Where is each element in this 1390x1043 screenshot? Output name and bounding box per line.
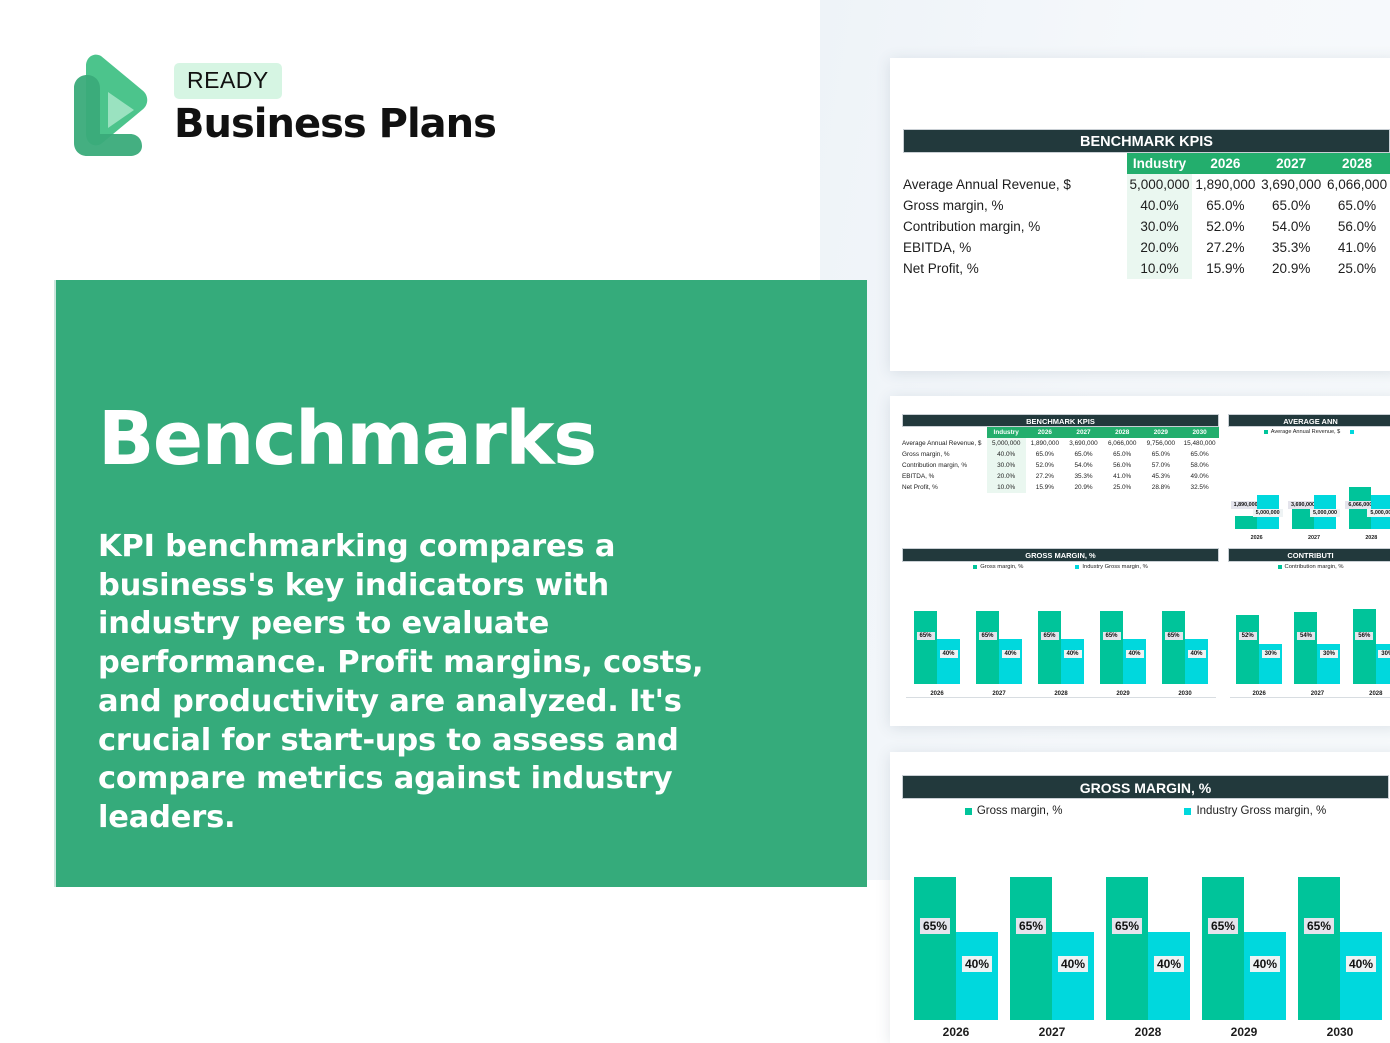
bar-industry: 40% <box>1185 639 1208 684</box>
legend-swatch-icon <box>1075 565 1079 569</box>
bar-group: 65%40%2028 <box>1033 596 1089 684</box>
bar-value-label: 65% <box>1164 632 1182 640</box>
bar-industry: 5,000,000 <box>1371 495 1390 529</box>
bar-company: 65% <box>1202 877 1244 1020</box>
bar-company: 65% <box>1106 877 1148 1020</box>
table-cell: 15.9% <box>1026 482 1065 493</box>
table-row: Contribution margin, %30.0%52.0%54.0%56.… <box>903 216 1390 237</box>
bar-group: 65%40%2026 <box>909 596 965 684</box>
hero-panel: Benchmarks KPI benchmarking compares a b… <box>56 280 867 887</box>
bar-value-label: 30% <box>1320 650 1338 658</box>
table-cell: 5,000,000 <box>987 438 1026 449</box>
x-axis-label: 2027 <box>1288 535 1340 541</box>
bar-industry: 40% <box>1061 639 1084 684</box>
column-header: 2028 <box>1103 427 1142 438</box>
table-header-row: Industry202620272028 <box>903 153 1390 174</box>
legend-item: Gross margin, % <box>965 805 1063 817</box>
bar-group: 65%40%2027 <box>971 596 1027 684</box>
table-row: Average Annual Revenue, $5,000,0001,890,… <box>903 174 1390 195</box>
table-cell: 65.0% <box>1026 449 1065 460</box>
table-cell: 10.0% <box>1127 258 1193 279</box>
bar-value-label: 54% <box>1297 632 1315 640</box>
hero-description: KPI benchmarking compares a business's k… <box>98 528 758 838</box>
contribution-chart-title: CONTRIBUTI <box>1228 548 1390 562</box>
bar-industry: 40% <box>937 639 960 684</box>
x-axis-label: 2028 <box>1104 1025 1192 1039</box>
bar-group: 65%40%2026 <box>912 848 1000 1020</box>
bar-value-label: 5,000,000 <box>1310 509 1340 517</box>
x-axis-line <box>1230 697 1390 698</box>
legend-swatch-icon <box>1350 430 1354 434</box>
background-white-block <box>620 880 920 1043</box>
bar-industry: 40% <box>1244 932 1286 1020</box>
bar-value-label: 65% <box>916 632 934 640</box>
big-gross-chart-legend: Gross margin, % Industry Gross margin, % <box>902 805 1389 817</box>
table-cell: 57.0% <box>1142 460 1181 471</box>
table-cell: 5,000,000 <box>1127 174 1193 195</box>
contribution-chart-plot: 52%30%202654%30%202756%30%2028 <box>1230 576 1390 684</box>
legend-item: Contribution margin, % <box>1278 564 1344 570</box>
table-cell: 20.9% <box>1064 482 1103 493</box>
bar-company: 65% <box>1100 611 1123 684</box>
table-row: EBITDA, %20.0%27.2%35.3%41.0% <box>903 237 1390 258</box>
legend-swatch-icon <box>1278 565 1282 569</box>
bar-group: 56%30%2028 <box>1348 596 1390 684</box>
column-header: 2026 <box>1026 427 1065 438</box>
column-header: 2027 <box>1064 427 1103 438</box>
row-label: Net Profit, % <box>903 258 1127 279</box>
x-axis-label: 2028 <box>1345 535 1390 541</box>
table-cell: 20.0% <box>1127 237 1193 258</box>
column-header: 2026 <box>1192 153 1258 174</box>
table-row: Net Profit, %10.0%15.9%20.9%25.0%28.8%32… <box>902 482 1219 493</box>
bar-value-label: 65% <box>1040 632 1058 640</box>
table-header-row: Industry20262027202820292030 <box>902 427 1219 438</box>
legend-swatch-icon <box>1264 430 1268 434</box>
x-axis-line <box>906 697 1216 698</box>
table-cell: 20.0% <box>987 471 1026 482</box>
row-label: EBITDA, % <box>902 471 987 482</box>
bar-group: 65%40%2030 <box>1157 596 1213 684</box>
bar-value-label: 65% <box>920 918 950 934</box>
legend-swatch-icon <box>1184 808 1191 815</box>
row-label: Contribution margin, % <box>902 460 987 471</box>
bar-value-label: 40% <box>1063 650 1081 658</box>
x-axis-label: 2030 <box>1296 1025 1384 1039</box>
table-row: EBITDA, %20.0%27.2%35.3%41.0%45.3%49.0% <box>902 471 1219 482</box>
bar-industry: 40% <box>1340 932 1382 1020</box>
bar-value-label: 40% <box>1058 956 1088 972</box>
bar-company: 6,066,000 <box>1349 487 1371 529</box>
column-header: 2027 <box>1258 153 1324 174</box>
bar-company: 65% <box>976 611 999 684</box>
x-axis-label: 2026 <box>912 1025 1000 1039</box>
column-header: 2030 <box>1180 427 1219 438</box>
revenue-chart-plot: 1,890,0005,000,00020263,690,0005,000,000… <box>1228 444 1390 529</box>
table-cell: 41.0% <box>1103 471 1142 482</box>
mid-table-title: BENCHMARK KPIS <box>902 414 1219 427</box>
table-row: Contribution margin, %30.0%52.0%54.0%56.… <box>902 460 1219 471</box>
bar-value-label: 5,000,000 <box>1253 509 1283 517</box>
table-cell: 65.0% <box>1180 449 1219 460</box>
mid-gross-chart-title: GROSS MARGIN, % <box>902 548 1219 562</box>
bar-value-label: 40% <box>962 956 992 972</box>
table-cell: 65.0% <box>1064 449 1103 460</box>
bar-value-label: 65% <box>1016 918 1046 934</box>
table-cell: 27.2% <box>1192 237 1258 258</box>
bar-value-label: 40% <box>1001 650 1019 658</box>
table-cell: 45.3% <box>1142 471 1181 482</box>
bar-value-label: 56% <box>1355 632 1373 640</box>
legend-item: Gross margin, % <box>973 564 1023 570</box>
table-cell: 1,890,000 <box>1026 438 1065 449</box>
bar-industry: 40% <box>1052 932 1094 1020</box>
bar-group: 54%30%2027 <box>1289 596 1345 684</box>
legend-label: Gross margin, % <box>980 564 1023 570</box>
table-cell: 20.9% <box>1258 258 1324 279</box>
table-cell: 10.0% <box>987 482 1026 493</box>
big-gross-panel: GROSS MARGIN, % Gross margin, % Industry… <box>890 752 1390 1043</box>
row-label: Average Annual Revenue, $ <box>902 438 987 449</box>
bar-value-label: 40% <box>1154 956 1184 972</box>
table-row: Gross margin, %40.0%65.0%65.0%65.0%65.0%… <box>902 449 1219 460</box>
row-label: EBITDA, % <box>903 237 1127 258</box>
table-cell: 54.0% <box>1064 460 1103 471</box>
bar-value-label: 40% <box>1187 650 1205 658</box>
x-axis-label: 2026 <box>1231 535 1283 541</box>
brand-text: READY Business Plans <box>174 63 496 145</box>
x-axis-label: 2029 <box>1200 1025 1288 1039</box>
bar-company: 54% <box>1294 612 1317 684</box>
bar-value-label: 65% <box>978 632 996 640</box>
table-cell: 35.3% <box>1064 471 1103 482</box>
legend-item: Industry Gross margin, % <box>1075 564 1147 570</box>
table-cell: 65.0% <box>1142 449 1181 460</box>
table-cell: 65.0% <box>1258 195 1324 216</box>
bar-value-label: 40% <box>1250 956 1280 972</box>
bar-value-label: 65% <box>1112 918 1142 934</box>
bar-value-label: 30% <box>1378 650 1390 658</box>
bar-company: 65% <box>1298 877 1340 1020</box>
table-cell: 65.0% <box>1103 449 1142 460</box>
row-label: Contribution margin, % <box>903 216 1127 237</box>
ready-badge: READY <box>174 63 282 99</box>
table-row: Gross margin, %40.0%65.0%65.0%65.0% <box>903 195 1390 216</box>
bar-group: 6,066,0005,000,0002028 <box>1345 467 1390 529</box>
table-cell: 32.5% <box>1180 482 1219 493</box>
bar-company: 65% <box>914 611 937 684</box>
bar-group: 65%40%2028 <box>1104 848 1192 1020</box>
bar-value-label: 65% <box>1304 918 1334 934</box>
bar-value-label: 30% <box>1262 650 1280 658</box>
column-header: Industry <box>1127 153 1193 174</box>
table-cell: 35.3% <box>1258 237 1324 258</box>
table-cell: 49.0% <box>1180 471 1219 482</box>
bar-company: 65% <box>1038 611 1061 684</box>
top-kpi-table: Industry202620272028Average Annual Reven… <box>903 153 1390 279</box>
legend-swatch-icon <box>973 565 977 569</box>
mid-kpi-table: Industry20262027202820292030Average Annu… <box>902 427 1219 493</box>
table-cell: 15,480,000 <box>1180 438 1219 449</box>
table-cell: 6,066,000 <box>1324 174 1390 195</box>
bar-value-label: 5,000,000 <box>1367 509 1390 517</box>
table-cell: 54.0% <box>1258 216 1324 237</box>
row-label: Net Profit, % <box>902 482 987 493</box>
revenue-chart-legend: Average Annual Revenue, $ <box>1228 429 1390 435</box>
bar-value-label: 40% <box>939 650 957 658</box>
bar-company: 56% <box>1353 609 1376 684</box>
bar-company: 65% <box>1010 877 1052 1020</box>
bar-industry: 40% <box>999 639 1022 684</box>
bar-company: 65% <box>1162 611 1185 684</box>
table-cell: 30.0% <box>1127 216 1193 237</box>
table-cell: 9,756,000 <box>1142 438 1181 449</box>
column-header: Industry <box>987 427 1026 438</box>
table-cell: 30.0% <box>987 460 1026 471</box>
bar-value-label: 40% <box>1125 650 1143 658</box>
revenue-chart-title: AVERAGE ANN <box>1228 414 1390 427</box>
legend-label: Contribution margin, % <box>1285 564 1344 570</box>
play-triangle-logo-icon <box>56 52 152 156</box>
bar-group: 65%40%2030 <box>1296 848 1384 1020</box>
table-cell: 3,690,000 <box>1258 174 1324 195</box>
table-cell: 25.0% <box>1103 482 1142 493</box>
bar-industry: 40% <box>1123 639 1146 684</box>
legend-label: Gross margin, % <box>977 805 1063 817</box>
page-title: Benchmarks <box>98 402 596 476</box>
bar-industry: 5,000,000 <box>1314 495 1336 529</box>
bar-industry: 5,000,000 <box>1257 495 1279 529</box>
table-row: Net Profit, %10.0%15.9%20.9%25.0% <box>903 258 1390 279</box>
bar-value-label: 40% <box>1346 956 1376 972</box>
legend-item: Average Annual Revenue, $ <box>1264 429 1341 435</box>
table-cell: 52.0% <box>1192 216 1258 237</box>
table-cell: 40.0% <box>987 449 1026 460</box>
bar-company: 52% <box>1236 615 1259 684</box>
bar-group: 65%40%2029 <box>1200 848 1288 1020</box>
table-cell: 65.0% <box>1324 195 1390 216</box>
top-kpi-panel: BENCHMARK KPIS Industry202620272028Avera… <box>890 58 1390 371</box>
row-label: Gross margin, % <box>903 195 1127 216</box>
mid-gross-chart-legend: Gross margin, % Industry Gross margin, % <box>902 564 1219 570</box>
bar-group: 1,890,0005,000,0002026 <box>1231 467 1283 529</box>
table-cell: 25.0% <box>1324 258 1390 279</box>
bar-group: 65%40%2029 <box>1095 596 1151 684</box>
brand-name: Business Plans <box>174 103 496 145</box>
table-cell: 56.0% <box>1103 460 1142 471</box>
dashboard-panel: BENCHMARK KPIS Industry20262027202820292… <box>890 396 1390 726</box>
bar-value-label: 65% <box>1102 632 1120 640</box>
brand-lockup: READY Business Plans <box>56 52 496 156</box>
legend-label: Industry Gross margin, % <box>1082 564 1147 570</box>
table-cell: 65.0% <box>1192 195 1258 216</box>
legend-item <box>1350 429 1357 435</box>
row-label: Average Annual Revenue, $ <box>903 174 1127 195</box>
mid-gross-chart-plot: 65%40%202665%40%202765%40%202865%40%2029… <box>906 576 1216 684</box>
legend-swatch-icon <box>965 808 972 815</box>
bar-group: 65%40%2027 <box>1008 848 1096 1020</box>
column-header: 2028 <box>1324 153 1390 174</box>
bar-value-label: 65% <box>1208 918 1238 934</box>
top-table-title: BENCHMARK KPIS <box>903 129 1390 153</box>
table-cell: 56.0% <box>1324 216 1390 237</box>
contribution-chart-legend: Contribution margin, % <box>1228 564 1390 570</box>
table-cell: 15.9% <box>1192 258 1258 279</box>
column-header: 2029 <box>1142 427 1181 438</box>
table-cell: 41.0% <box>1324 237 1390 258</box>
big-gross-chart-plot: 65%40%202665%40%202765%40%202865%40%2029… <box>908 820 1388 1020</box>
bar-industry: 30% <box>1317 644 1340 684</box>
bar-company: 1,890,000 <box>1235 516 1257 529</box>
table-row: Average Annual Revenue, $5,000,0001,890,… <box>902 438 1219 449</box>
table-cell: 6,066,000 <box>1103 438 1142 449</box>
bar-group: 52%30%2026 <box>1231 596 1287 684</box>
bar-industry: 30% <box>1376 644 1390 684</box>
table-cell: 58.0% <box>1180 460 1219 471</box>
bar-industry: 30% <box>1259 644 1282 684</box>
legend-label: Industry Gross margin, % <box>1196 805 1326 817</box>
bar-industry: 40% <box>1148 932 1190 1020</box>
slide-canvas: READY Business Plans Benchmarks KPI benc… <box>0 0 1390 1043</box>
table-cell: 27.2% <box>1026 471 1065 482</box>
table-cell: 52.0% <box>1026 460 1065 471</box>
table-cell: 40.0% <box>1127 195 1193 216</box>
row-label: Gross margin, % <box>902 449 987 460</box>
legend-item: Industry Gross margin, % <box>1184 805 1326 817</box>
bar-company: 65% <box>914 877 956 1020</box>
legend-label: Average Annual Revenue, $ <box>1271 429 1341 435</box>
bar-value-label: 52% <box>1239 632 1257 640</box>
bar-group: 3,690,0005,000,0002027 <box>1288 467 1340 529</box>
table-cell: 3,690,000 <box>1064 438 1103 449</box>
table-cell: 28.8% <box>1142 482 1181 493</box>
big-gross-chart-title: GROSS MARGIN, % <box>902 775 1389 799</box>
table-cell: 1,890,000 <box>1192 174 1258 195</box>
x-axis-label: 2027 <box>1008 1025 1096 1039</box>
bar-industry: 40% <box>956 932 998 1020</box>
